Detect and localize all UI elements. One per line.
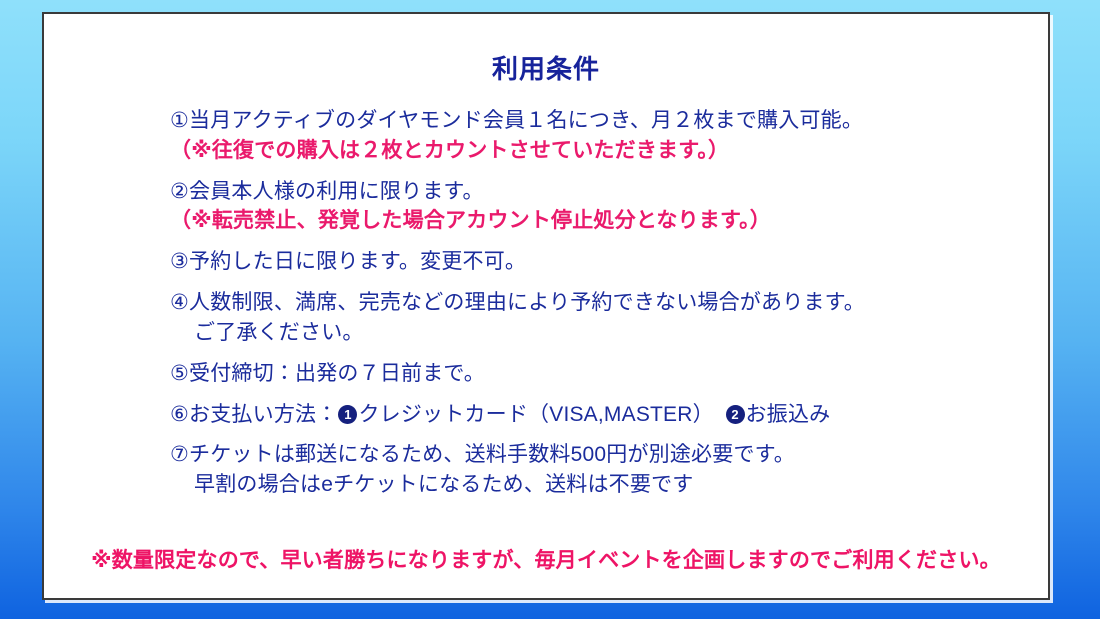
condition-main-text: ①当月アクティブのダイヤモンド会員１名につき、月２枚まで購入可能。	[170, 106, 1048, 136]
condition-continuation-text: ご了承ください。	[170, 318, 1048, 348]
condition-continuation-text: 早割の場合はeチケットになるため、送料は不要です	[170, 470, 1048, 500]
list-item: ⑤受付締切：出発の７日前まで。	[170, 359, 1048, 389]
list-item: ①当月アクティブのダイヤモンド会員１名につき、月２枚まで購入可能。 （※往復での…	[170, 106, 1048, 166]
condition-sub-text: （※転売禁止、発覚した場合アカウント停止処分となります。）	[170, 206, 1048, 236]
payment-option-1-badge: 1	[338, 405, 357, 424]
slide-root: 利用条件 ①当月アクティブのダイヤモンド会員１名につき、月２枚まで購入可能。 （…	[0, 0, 1100, 619]
list-item-payment: ⑥お支払い方法：1クレジットカード（VISA,MASTER） 2お振込み	[170, 400, 1048, 430]
payment-option-2-label: お振込み	[746, 403, 831, 426]
payment-option-spacer	[703, 403, 724, 426]
footer-note: ※数量限定なので、早い者勝ちになりますが、毎月イベントを企画しますのでご利用くだ…	[44, 544, 1048, 574]
condition-sub-text: （※往復での購入は２枚とカウントさせていただきます。）	[170, 136, 1048, 166]
condition-main-text: ②会員本人様の利用に限ります。	[170, 177, 1048, 207]
list-item: ②会員本人様の利用に限ります。 （※転売禁止、発覚した場合アカウント停止処分とな…	[170, 177, 1048, 237]
list-item: ④人数制限、満席、完売などの理由により予約できない場合があります。 ご了承くださ…	[170, 288, 1048, 348]
condition-main-text: ③予約した日に限ります。変更不可。	[170, 247, 1048, 277]
condition-main-text: ⑤受付締切：出発の７日前まで。	[170, 359, 1048, 389]
list-item: ⑦チケットは郵送になるため、送料手数料500円が別途必要です。 早割の場合はeチ…	[170, 440, 1048, 500]
payment-option-1-label: クレジットカード（VISA,MASTER）	[358, 403, 703, 426]
conditions-list: ①当月アクティブのダイヤモンド会員１名につき、月２枚まで購入可能。 （※往復での…	[44, 106, 1048, 500]
payment-prefix-label: ⑥お支払い方法：	[170, 403, 337, 426]
condition-main-text: ⑦チケットは郵送になるため、送料手数料500円が別途必要です。	[170, 440, 1048, 470]
content-panel: 利用条件 ①当月アクティブのダイヤモンド会員１名につき、月２枚まで購入可能。 （…	[42, 12, 1050, 600]
payment-methods-line: ⑥お支払い方法：1クレジットカード（VISA,MASTER） 2お振込み	[170, 400, 1048, 430]
condition-main-text: ④人数制限、満席、完売などの理由により予約できない場合があります。	[170, 288, 1048, 318]
list-item: ③予約した日に限ります。変更不可。	[170, 247, 1048, 277]
payment-option-2-badge: 2	[726, 405, 745, 424]
page-title: 利用条件	[44, 56, 1048, 82]
